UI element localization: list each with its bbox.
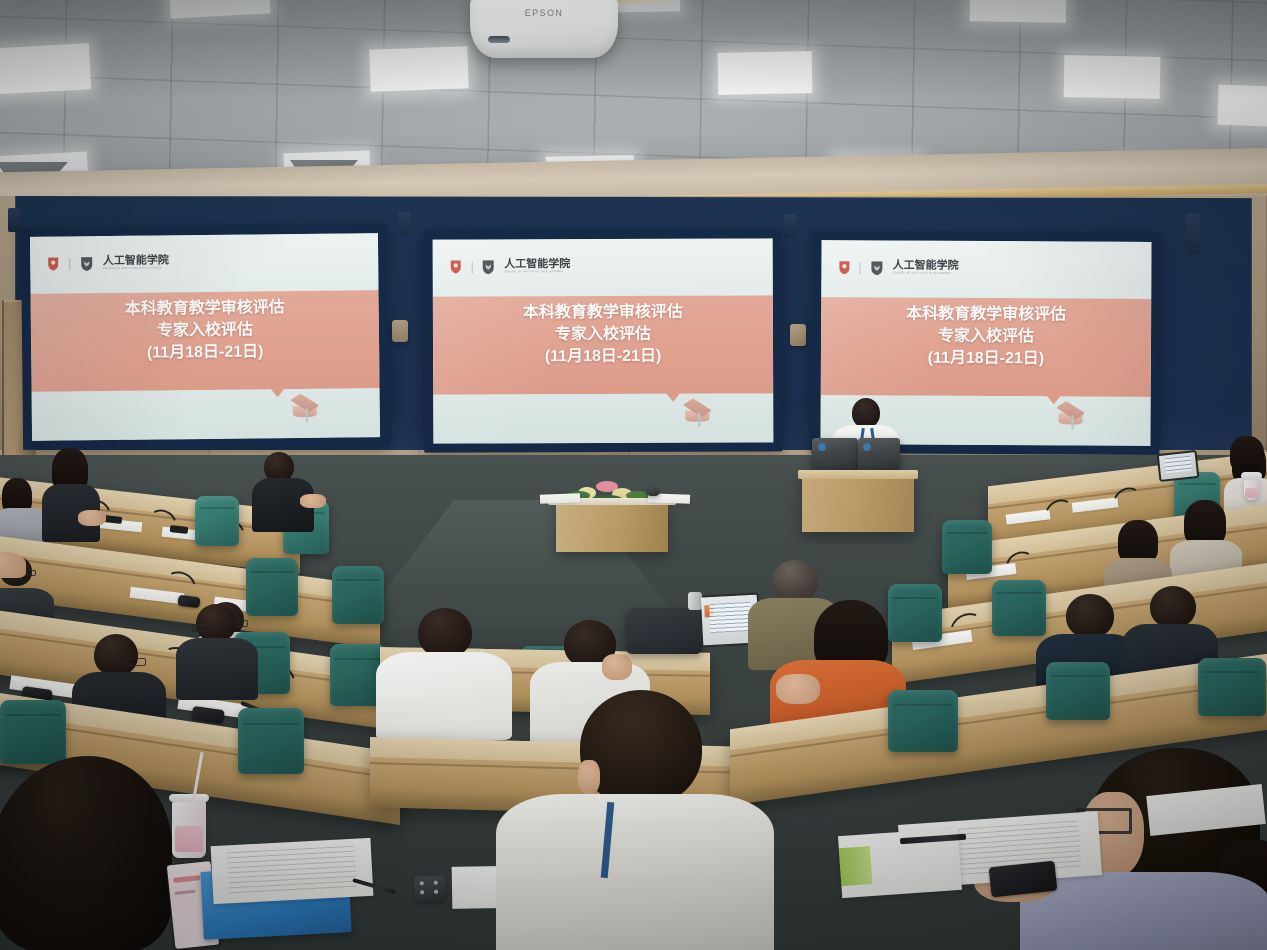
attendee-head	[1066, 594, 1114, 638]
attendee-hand	[602, 654, 632, 680]
flower-table	[556, 498, 668, 552]
podium-surface	[798, 470, 918, 479]
chair[interactable]	[1198, 658, 1266, 716]
attendee-rear-left-2	[34, 448, 110, 544]
slide-footer-area	[32, 388, 380, 441]
control-button[interactable]	[434, 881, 438, 885]
attendee-arm	[776, 674, 820, 704]
podium-monitor-right	[858, 438, 900, 472]
laptop-display	[1157, 450, 1200, 482]
center-projection-screen[interactable]: 人工智能学院 SCHOOL OF ARTIFICIAL INTELLIGENCE…	[424, 229, 783, 452]
left-projection-screen[interactable]: 人工智能学院 SCHOOL OF ARTIFICIAL INTELLIGENCE…	[21, 224, 389, 450]
attendee-head	[580, 690, 702, 806]
slide-surface: 人工智能学院 SCHOOL OF ARTIFICIAL INTELLIGENCE…	[433, 238, 774, 443]
wall-speaker	[392, 320, 408, 342]
attendee-hair	[0, 756, 172, 950]
attendee-arm	[78, 510, 106, 526]
slide-surface: 人工智能学院 SCHOOL OF ARTIFICIAL INTELLIGENCE…	[30, 233, 380, 441]
attendee-arm	[0, 552, 26, 578]
slide-title-text: 本科教育教学审核评估 专家入校评估 (11月18日-21日)	[821, 303, 1151, 371]
black-backpack	[626, 608, 702, 654]
water-bottle	[688, 592, 702, 610]
control-button[interactable]	[420, 890, 424, 894]
attendee-right-edge-1	[1224, 436, 1267, 500]
monitor-indicator	[818, 443, 826, 451]
graduation-cap-icon	[678, 400, 718, 432]
screen-mount-bracket	[784, 214, 796, 238]
slide-line-1: 本科教育教学审核评估	[433, 302, 773, 325]
slide-logo: 人工智能学院 SCHOOL OF ARTIFICIAL INTELLIGENCE	[450, 253, 640, 280]
chair[interactable]	[888, 690, 958, 752]
attendee-glasses	[192, 624, 214, 632]
graduation-cap-icon	[1052, 403, 1092, 435]
shield-icon	[870, 260, 883, 276]
wall-speaker	[790, 324, 806, 346]
attendee-head	[418, 608, 472, 658]
chair[interactable]	[1046, 662, 1110, 720]
slide-footer-area	[433, 393, 773, 443]
cap-tassel	[698, 413, 700, 427]
slide-line-3: (11月18日-21日)	[433, 346, 773, 369]
desk-control-panel[interactable]	[414, 875, 447, 902]
attendee-tier3-left-2	[170, 604, 262, 696]
monitor-indicator	[863, 443, 871, 451]
slide-band-notch	[268, 386, 286, 397]
open-laptop[interactable]	[1157, 450, 1200, 482]
ceiling-projector: EPSON	[470, 0, 618, 58]
slide-logo-subtext: SCHOOL OF ARTIFICIAL INTELLIGENCE	[893, 273, 959, 276]
attendee-arm	[300, 494, 326, 508]
drink-cup	[172, 800, 206, 858]
front-table-control-panel[interactable]	[646, 487, 660, 496]
slide-logo-subtext: SCHOOL OF ARTIFICIAL INTELLIGENCE	[103, 268, 169, 271]
projector-lens	[488, 36, 510, 43]
attendee-head	[772, 560, 818, 602]
cup-contents	[175, 826, 204, 853]
slide-logo: 人工智能学院 SCHOOL OF ARTIFICIAL INTELLIGENCE	[838, 254, 1030, 282]
attendee-head	[1150, 586, 1196, 628]
slide-line-3: (11月18日-21日)	[31, 341, 379, 367]
laptop-document	[1164, 456, 1192, 474]
chair[interactable]	[238, 708, 304, 774]
attendee-head	[94, 634, 138, 676]
laptop-document	[709, 602, 752, 634]
crest-shield-icon	[838, 260, 850, 275]
attendee-hair	[1230, 436, 1264, 472]
slide-logo-text: 人工智能学院	[504, 259, 570, 270]
slide-title-text: 本科教育教学审核评估 专家入校评估 (11月18日-21日)	[433, 302, 773, 369]
lecture-hall-photo: EPSON	[0, 0, 1267, 950]
presenter-glasses	[855, 412, 877, 418]
logo-divider	[69, 258, 70, 270]
attendee-glasses	[124, 658, 146, 666]
attendee-ear	[578, 760, 600, 794]
attendee-front-center-man	[496, 690, 776, 950]
podium-monitor-left	[812, 438, 858, 472]
slide-line-2: 专家入校评估	[821, 325, 1151, 349]
cap-tassel	[306, 408, 308, 422]
shield-icon	[482, 259, 495, 275]
crest-shield-icon	[450, 260, 462, 275]
crest-shield-icon	[48, 257, 60, 272]
attendee-rear-left-3	[248, 452, 320, 534]
printed-documents	[211, 838, 374, 904]
speaker-podium	[802, 470, 914, 532]
control-button[interactable]	[434, 890, 438, 894]
chair[interactable]	[0, 700, 66, 764]
slide-line-3: (11月18日-21日)	[821, 348, 1151, 372]
screen-mount-bracket	[1186, 214, 1200, 254]
slide-logo-subtext: SCHOOL OF ARTIFICIAL INTELLIGENCE	[504, 271, 570, 274]
document-text-lines	[227, 846, 357, 897]
screen-mount-bracket	[398, 212, 410, 236]
attendee-torso	[176, 638, 258, 700]
front-table-paper	[540, 493, 580, 503]
cup-lid	[169, 794, 209, 802]
attendee-torso	[496, 794, 774, 950]
attendee-head	[196, 604, 236, 642]
slide-title-text: 本科教育教学审核评估 专家入校评估 (11月18日-21日)	[31, 296, 380, 366]
slide-line-2: 专家入校评估	[433, 324, 773, 347]
attendee-torso	[376, 652, 512, 740]
graduation-cap-icon	[286, 395, 326, 427]
projector-brand-label: EPSON	[470, 8, 618, 18]
cap-tassel	[1072, 416, 1074, 430]
logo-divider	[471, 261, 472, 273]
slide-line-1: 本科教育教学审核评估	[821, 303, 1151, 327]
control-button[interactable]	[420, 881, 424, 885]
slide-logo-text: 人工智能学院	[893, 261, 959, 272]
attendee-front-left-woman	[0, 756, 190, 950]
attendee-tier3-center-1	[374, 608, 514, 728]
shield-icon	[80, 256, 93, 272]
slide-logo: 人工智能学院 SCHOOL OF ARTIFICIAL INTELLIGENCE	[47, 249, 242, 278]
attendee-torso	[1020, 872, 1267, 950]
chair[interactable]	[942, 520, 992, 574]
logo-divider	[859, 262, 860, 274]
chair[interactable]	[195, 496, 239, 546]
screen-mount-bracket	[8, 208, 20, 232]
